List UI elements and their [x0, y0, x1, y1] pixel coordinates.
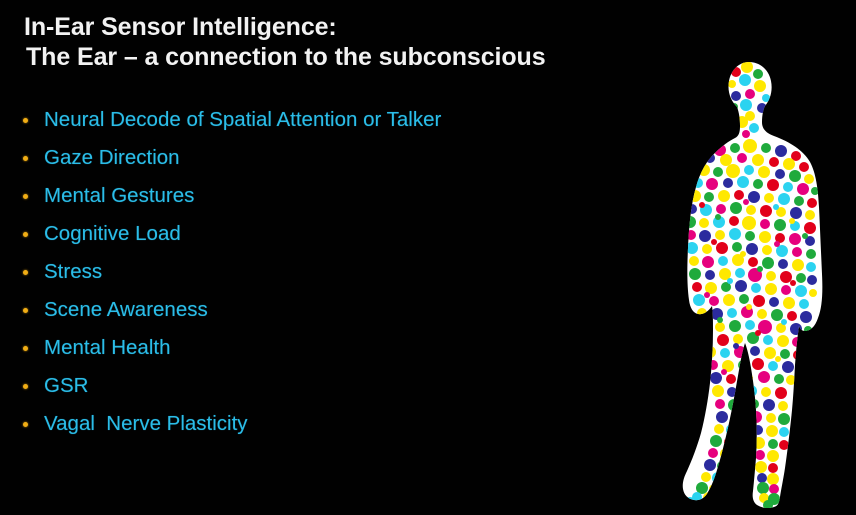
bullet-dot-icon: [23, 232, 28, 237]
list-item-label: Mental Health: [44, 337, 170, 359]
list-item: Stress: [20, 253, 660, 291]
list-item-label: Neural Decode of Spatial Attention or Ta…: [44, 109, 441, 131]
bullet-dot-icon: [23, 118, 28, 123]
list-item-label: Scene Awareness: [44, 299, 208, 321]
list-item: Cognitive Load: [20, 215, 660, 253]
bullet-dot-icon: [23, 308, 28, 313]
list-item: Vagal Nerve Plasticity: [20, 405, 660, 443]
bullet-dot-icon: [23, 422, 28, 427]
silhouette-body: [650, 50, 856, 515]
bullet-dot-icon: [23, 384, 28, 389]
list-item: Mental Gestures: [20, 177, 660, 215]
bullet-dot-icon: [23, 194, 28, 199]
list-item: Scene Awareness: [20, 291, 660, 329]
list-item-label: Cognitive Load: [44, 223, 181, 245]
slide-canvas: In-Ear Sensor Intelligence: The Ear – a …: [0, 0, 856, 515]
page-title: In-Ear Sensor Intelligence: The Ear – a …: [24, 12, 664, 72]
list-item: Mental Health: [20, 329, 660, 367]
list-item-label: Gaze Direction: [44, 147, 180, 169]
bullet-dot-icon: [23, 270, 28, 275]
title-line-1: In-Ear Sensor Intelligence:: [24, 12, 664, 42]
list-item-label: Mental Gestures: [44, 185, 194, 207]
human-silhouette-dot-mosaic-graphic: [650, 50, 856, 515]
list-item: Neural Decode of Spatial Attention or Ta…: [20, 101, 660, 139]
capability-bullet-list: Neural Decode of Spatial Attention or Ta…: [20, 101, 660, 443]
bullet-dot-icon: [23, 156, 28, 161]
bullet-dot-icon: [23, 346, 28, 351]
list-item: Gaze Direction: [20, 139, 660, 177]
list-item-label: Vagal Nerve Plasticity: [44, 413, 248, 435]
title-line-2: The Ear – a connection to the subconscio…: [24, 42, 664, 72]
list-item-label: GSR: [44, 375, 88, 397]
list-item-label: Stress: [44, 261, 102, 283]
list-item: GSR: [20, 367, 660, 405]
